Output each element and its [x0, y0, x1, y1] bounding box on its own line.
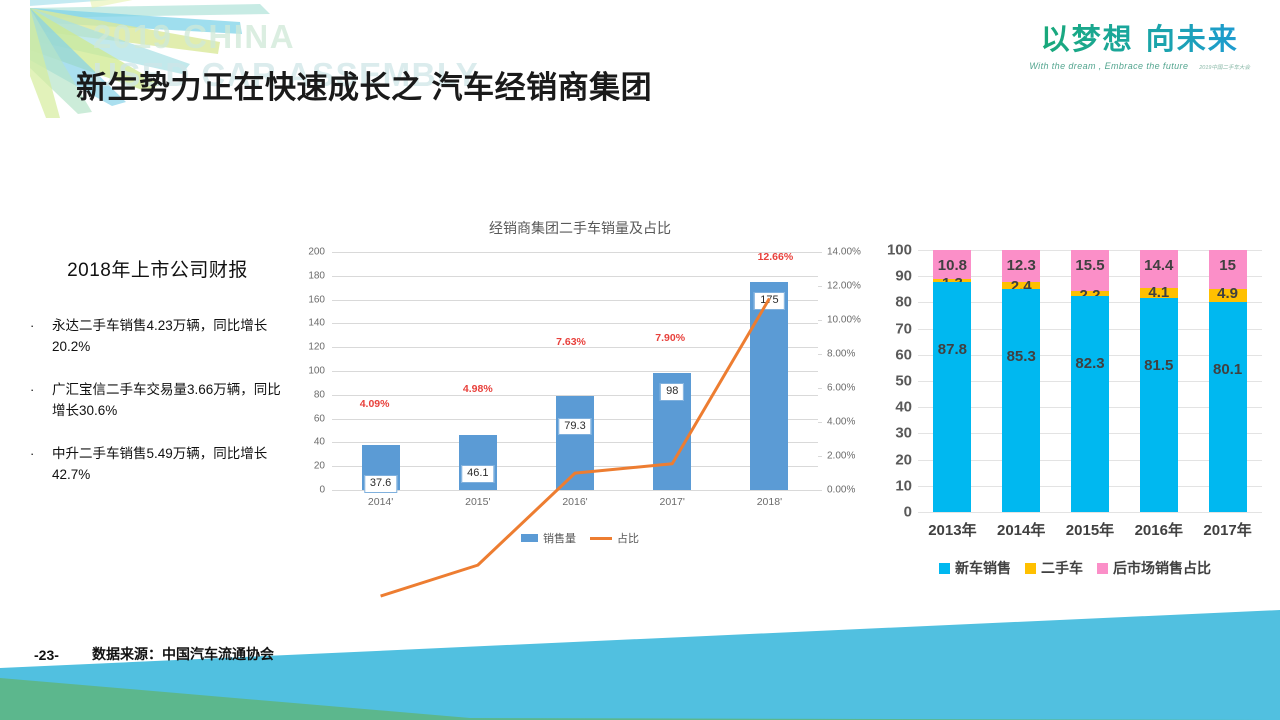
bar-segment-new-car: 81.5	[1140, 298, 1178, 512]
stacked-bar: 15.52.282.3	[1071, 250, 1109, 512]
bar-value-label: 80.1	[1213, 362, 1242, 377]
bar-column: 15.52.282.3	[1056, 250, 1125, 512]
y-axis-tick-label: 200	[308, 247, 325, 258]
y-axis-tick-label: 80	[895, 294, 912, 311]
bar-value-label: 85.3	[1007, 349, 1036, 364]
brand-logo-english: With the dream , Embrace the future 2019…	[1029, 61, 1250, 71]
y-axis-tick-label: 20	[314, 461, 325, 472]
left-text-panel: 2018年上市公司财报 · 永达二手车销售4.23万辆，同比增长20.2% · …	[30, 255, 285, 508]
brand-logo-tagline: With the dream , Embrace the future	[1029, 61, 1188, 71]
bar-value-label: 14.4	[1144, 258, 1173, 273]
gridline	[918, 512, 1262, 513]
y-axis-tick-label: 70	[895, 320, 912, 337]
y-axis-tick-label: 140	[308, 318, 325, 329]
bar-value-label: 4.9	[1217, 286, 1238, 301]
y-axis-tick-label: 0	[904, 504, 912, 521]
page-number: -23-	[34, 647, 59, 663]
legend-item-aftermarket: 后市场销售占比	[1097, 558, 1211, 578]
y2-axis-tick-label: 12.00%	[827, 281, 861, 292]
market-composition-chart: 0102030405060708090100 10.81.387.812.32.…	[880, 250, 1270, 580]
legend-label: 后市场销售占比	[1113, 558, 1211, 578]
stacked-bar: 12.32.485.3	[1002, 250, 1040, 512]
bar-value-label: 10.8	[938, 258, 967, 273]
bullet-marker-icon: ·	[30, 316, 52, 358]
y2-axis-tick-label: 4.00%	[827, 417, 855, 428]
y-axis-tick-label: 120	[308, 342, 325, 353]
y-axis-tick-label: 180	[308, 270, 325, 281]
bar-segment-aftermarket: 15.5	[1071, 250, 1109, 291]
bar-segment-new-car: 85.3	[1002, 289, 1040, 512]
y2-axis-tick-label: 14.00%	[827, 247, 861, 258]
legend-item-new-car: 新车销售	[939, 558, 1011, 578]
bar-value-label: 15	[1219, 258, 1236, 273]
y-axis-tick-label: 40	[895, 399, 912, 416]
y-axis-tick-label: 60	[314, 413, 325, 424]
y-axis-tick-label: 30	[895, 425, 912, 442]
y-axis-tick-label: 100	[887, 242, 912, 259]
y-axis-tick-label: 80	[314, 389, 325, 400]
y2-axis-tick-label: 2.00%	[827, 451, 855, 462]
line-value-label: 12.66%	[758, 251, 794, 263]
bar-value-label: 12.3	[1007, 258, 1036, 273]
y2-axis-tick-label: 6.00%	[827, 383, 855, 394]
list-item-text: 永达二手车销售4.23万辆，同比增长20.2%	[52, 316, 285, 358]
bar-column: 12.32.485.3	[987, 250, 1056, 512]
chart-plot-area: 0102030405060708090100 10.81.387.812.32.…	[918, 250, 1262, 512]
legend-item-used-car: 二手车	[1025, 558, 1083, 578]
y2-axis-tick-label: 8.00%	[827, 349, 855, 360]
y2-axis-tick	[818, 490, 822, 491]
bar-column: 14.44.181.5	[1124, 250, 1193, 512]
dealer-used-car-chart: 经销商集团二手车销量及占比 02040608010012014016018020…	[290, 218, 870, 538]
bar-column: 10.81.387.8	[918, 250, 987, 512]
chart-plot-area: 0204060801001201401601802000.00%2.00%4.0…	[332, 252, 818, 490]
watermark-line-1: 2019 CHINA	[93, 18, 479, 56]
bar-segment-used-car: 4.9	[1209, 289, 1247, 302]
line-value-label: 7.90%	[655, 332, 685, 344]
y-axis-tick-label: 50	[895, 373, 912, 390]
legend-swatch-aftermarket-icon	[1097, 563, 1108, 574]
bar-column: 154.980.1	[1193, 250, 1262, 512]
stacked-bar: 154.980.1	[1209, 250, 1247, 512]
chart-legend: 新车销售 二手车 后市场销售占比	[880, 558, 1270, 578]
y-axis-tick-label: 100	[308, 366, 325, 377]
left-panel-heading: 2018年上市公司财报	[30, 255, 285, 282]
y-axis-tick-label: 0	[319, 485, 325, 496]
list-item: · 永达二手车销售4.23万辆，同比增长20.2%	[30, 316, 285, 358]
y2-axis-tick	[818, 354, 822, 355]
legend-label: 二手车	[1041, 558, 1083, 578]
y-axis-tick-label: 20	[895, 451, 912, 468]
y2-axis-tick	[818, 422, 822, 423]
y2-axis-tick	[818, 388, 822, 389]
y-axis-tick-label: 60	[895, 346, 912, 363]
bar-segment-aftermarket: 15	[1209, 250, 1247, 289]
line-value-label: 4.09%	[360, 398, 390, 410]
legend-swatch-used-car-icon	[1025, 563, 1036, 574]
brand-logo: 以梦想 向未来 With the dream , Embrace the fut…	[1029, 16, 1250, 71]
bar-value-label: 15.5	[1075, 258, 1104, 273]
y2-axis-tick	[818, 456, 822, 457]
bar-segment-new-car: 82.3	[1071, 296, 1109, 512]
bar-segment-new-car: 80.1	[1209, 302, 1247, 512]
y2-axis-tick-label: 0.00%	[827, 485, 855, 496]
bar-segment-new-car: 87.8	[933, 282, 971, 512]
y2-axis-tick	[818, 286, 822, 287]
bullet-marker-icon: ·	[30, 380, 52, 422]
x-axis-tick-label: 2016年	[1124, 519, 1193, 540]
bar-value-label: 87.8	[938, 342, 967, 357]
y2-axis-tick	[818, 320, 822, 321]
legend-label: 新车销售	[955, 558, 1011, 578]
bar-segment-aftermarket: 14.4	[1140, 250, 1178, 288]
list-item: · 广汇宝信二手车交易量3.66万辆，同比增长30.6%	[30, 380, 285, 422]
y-axis-tick-label: 40	[314, 437, 325, 448]
x-axis-tick-label: 2015年	[1056, 519, 1125, 540]
brand-logo-subtext: 2019中国二手车大会	[1199, 65, 1250, 71]
list-item: · 中升二手车销售5.49万辆，同比增长42.7%	[30, 444, 285, 486]
x-axis-tick-label: 2017年	[1193, 519, 1262, 540]
page-title: 新生势力正在快速成长之 汽车经销商集团	[76, 62, 652, 107]
chart-x-axis-labels: 2013年2014年2015年2016年2017年	[918, 519, 1262, 540]
y-axis-tick-label: 10	[895, 477, 912, 494]
list-item-text: 广汇宝信二手车交易量3.66万辆，同比增长30.6%	[52, 380, 285, 422]
brand-logo-chinese: 以梦想 向未来	[1029, 16, 1250, 58]
chart-title: 经销商集团二手车销量及占比	[290, 218, 870, 238]
bar-value-label: 81.5	[1144, 358, 1173, 373]
list-item-text: 中升二手车销售5.49万辆，同比增长42.7%	[52, 444, 285, 486]
chart-line-series	[332, 252, 818, 720]
line-value-label: 4.98%	[463, 383, 493, 395]
stacked-bar: 10.81.387.8	[933, 250, 971, 512]
y-axis-tick-label: 160	[308, 294, 325, 305]
y2-axis-tick-label: 10.00%	[827, 315, 861, 326]
line-value-label: 7.63%	[556, 336, 586, 348]
bar-value-label: 82.3	[1075, 356, 1104, 371]
chart-stacked-bars: 10.81.387.812.32.485.315.52.282.314.44.1…	[918, 250, 1262, 512]
bar-segment-used-car: 4.1	[1140, 288, 1178, 299]
y2-axis-tick	[818, 252, 822, 253]
y-axis-tick-label: 90	[895, 268, 912, 285]
x-axis-tick-label: 2014年	[987, 519, 1056, 540]
bullet-marker-icon: ·	[30, 444, 52, 486]
legend-swatch-new-car-icon	[939, 563, 950, 574]
x-axis-tick-label: 2013年	[918, 519, 987, 540]
source-note: 数据来源：中国汽车流通协会	[92, 644, 274, 664]
stacked-bar: 14.44.181.5	[1140, 250, 1178, 512]
